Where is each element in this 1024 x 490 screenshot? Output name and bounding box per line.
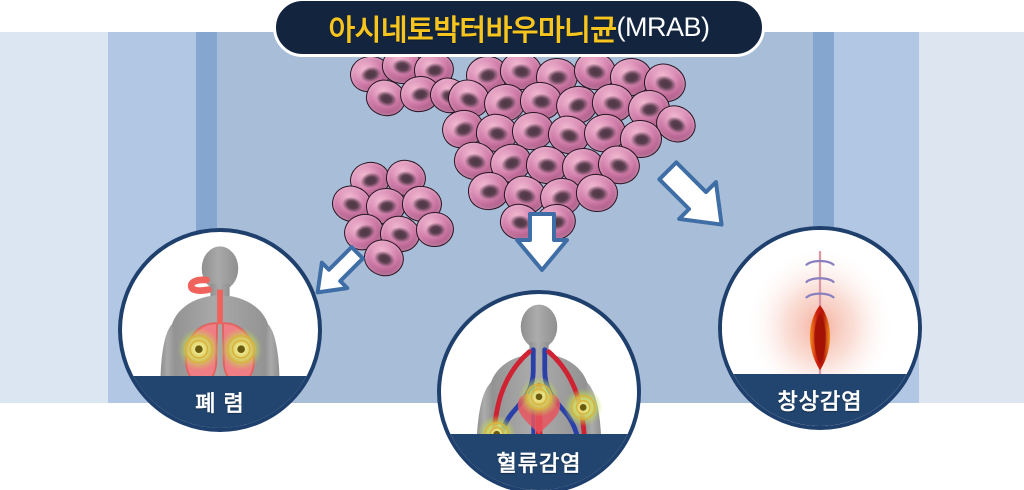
disease-node-wound[interactable]: 창상감염: [718, 226, 922, 430]
infection-marker: [178, 328, 220, 370]
stripe-panel-left-light: [0, 32, 108, 403]
node-label-band: 창상감염: [722, 374, 918, 426]
title-pill: 아시네토박터바우마니균(MRAB): [273, 0, 765, 57]
title-korean: 아시네토박터바우마니균: [329, 7, 617, 49]
infection-marker: [519, 377, 559, 417]
disease-node-pneumonia[interactable]: 폐 렴: [118, 228, 322, 432]
node-label-wound: 창상감염: [778, 384, 863, 416]
bacteria-cell: [415, 211, 455, 249]
title-abbreviation: (MRAB): [616, 12, 709, 43]
infection-marker: [564, 388, 602, 426]
infographic-canvas: 폐 렴: [0, 0, 1024, 490]
stripe-panel-right-light: [919, 32, 1024, 403]
infection-marker: [220, 328, 262, 370]
node-label-band: 혈류감염: [441, 434, 637, 490]
disease-node-bloodstream[interactable]: 혈류감염: [437, 290, 641, 490]
arrow-to-wound: [648, 152, 740, 242]
node-label-pneumonia: 폐 렴: [195, 386, 245, 418]
node-label-bloodstream: 혈류감염: [497, 446, 582, 478]
node-label-band: 폐 렴: [122, 376, 318, 428]
arrow-to-bloodstream: [505, 210, 579, 274]
